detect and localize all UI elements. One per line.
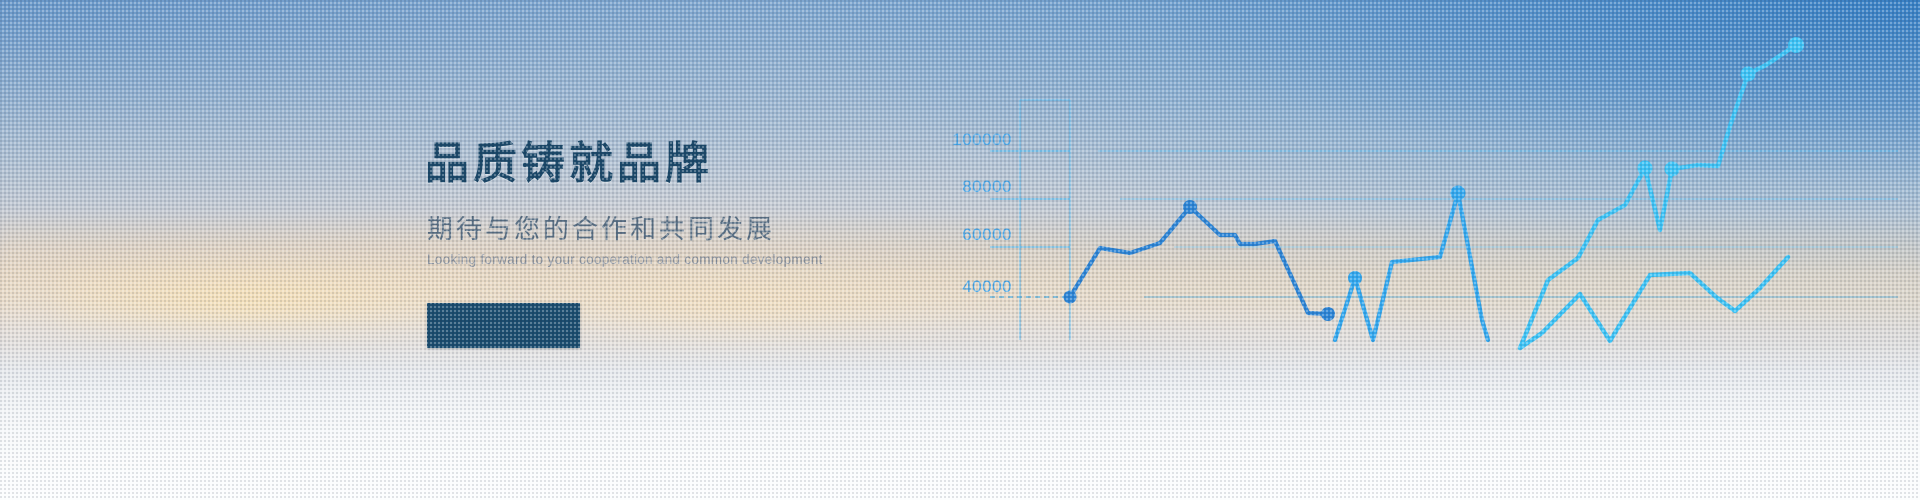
data-point-marker [1665, 162, 1680, 177]
data-point-marker [1638, 161, 1653, 176]
data-point-marker [1321, 307, 1335, 321]
cta-button[interactable] [427, 303, 580, 348]
series-series-1-dark-blue [1064, 200, 1336, 321]
gridlines [1098, 151, 1898, 297]
subtitle-cn: 期待与您的合作和共同发展 [427, 214, 985, 245]
subtitle-en: Looking forward to your cooperation and … [427, 252, 985, 267]
page-title: 品质铸就品牌 [425, 140, 985, 188]
axis-tick-rules [990, 151, 1070, 297]
series-series-4-cyan-upper [1520, 37, 1804, 348]
data-point-marker [1348, 271, 1362, 285]
y-tick-label: 40000 [962, 277, 1012, 296]
data-point-marker [1741, 67, 1756, 82]
series-series-2-mid-blue [1335, 186, 1488, 341]
hero-copy: 品质铸就品牌 期待与您的合作和共同发展 Looking forward to y… [425, 140, 985, 267]
data-point-marker [1064, 291, 1077, 304]
data-point-marker [1183, 200, 1197, 214]
data-point-marker [1451, 186, 1466, 201]
axis-frame [1020, 100, 1070, 340]
data-point-marker [1788, 37, 1804, 53]
hero-banner: 100000 80000 60000 40000 [0, 0, 1920, 500]
line-chart: 100000 80000 60000 40000 [930, 0, 1920, 500]
